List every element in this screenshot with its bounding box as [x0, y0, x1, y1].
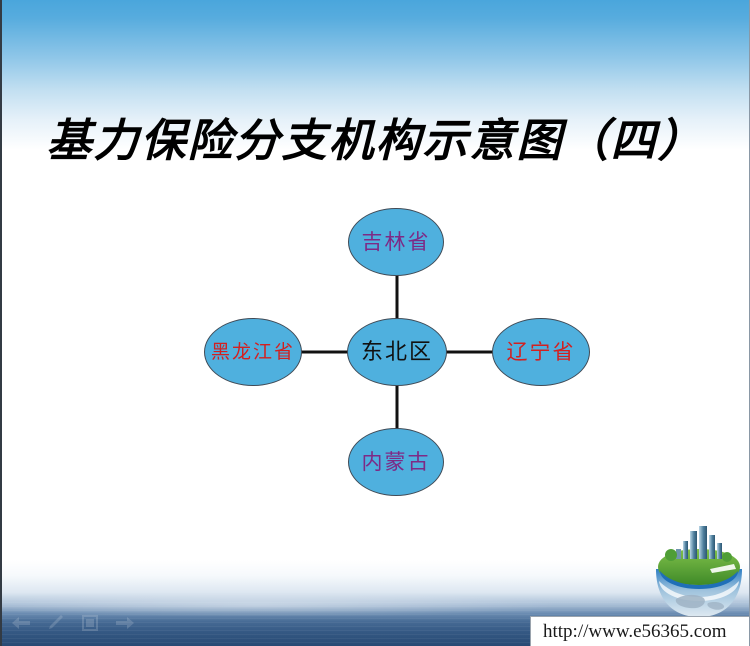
presentation-slide: 基力保险分支机构示意图（四） 吉林省 黑龙江省 东北区 辽宁省 内蒙古: [0, 0, 750, 646]
pen-icon[interactable]: [46, 614, 66, 632]
forward-arrow-icon[interactable]: [114, 614, 136, 632]
diagram-node-dongbeiqu[interactable]: 东北区: [347, 318, 447, 386]
page-icon[interactable]: [80, 614, 100, 632]
diagram-node-label: 辽宁省: [507, 342, 576, 363]
diagram-node-heilongjiang[interactable]: 黑龙江省: [204, 318, 302, 386]
footer-url-box[interactable]: http://www.e56365.com: [530, 616, 750, 646]
diagram-node-liaoning[interactable]: 辽宁省: [492, 318, 590, 386]
diagram-node-jilin[interactable]: 吉林省: [348, 208, 444, 276]
diagram-node-label: 东北区: [361, 341, 433, 363]
diagram-node-label: 内蒙古: [362, 452, 431, 473]
slide-nav-icons[interactable]: [10, 610, 160, 636]
diagram-node-label: 黑龙江省: [211, 343, 295, 362]
diagram-node-label: 吉林省: [362, 232, 431, 253]
diagram-node-neimenggu[interactable]: 内蒙古: [348, 428, 444, 496]
globe-city-logo: [650, 523, 748, 619]
footer-url-text: http://www.e56365.com: [543, 621, 726, 643]
slide-title: 基力保险分支机构示意图（四）: [2, 104, 749, 169]
back-arrow-icon[interactable]: [10, 614, 32, 632]
org-diagram: 吉林省 黑龙江省 东北区 辽宁省 内蒙古: [182, 190, 612, 510]
